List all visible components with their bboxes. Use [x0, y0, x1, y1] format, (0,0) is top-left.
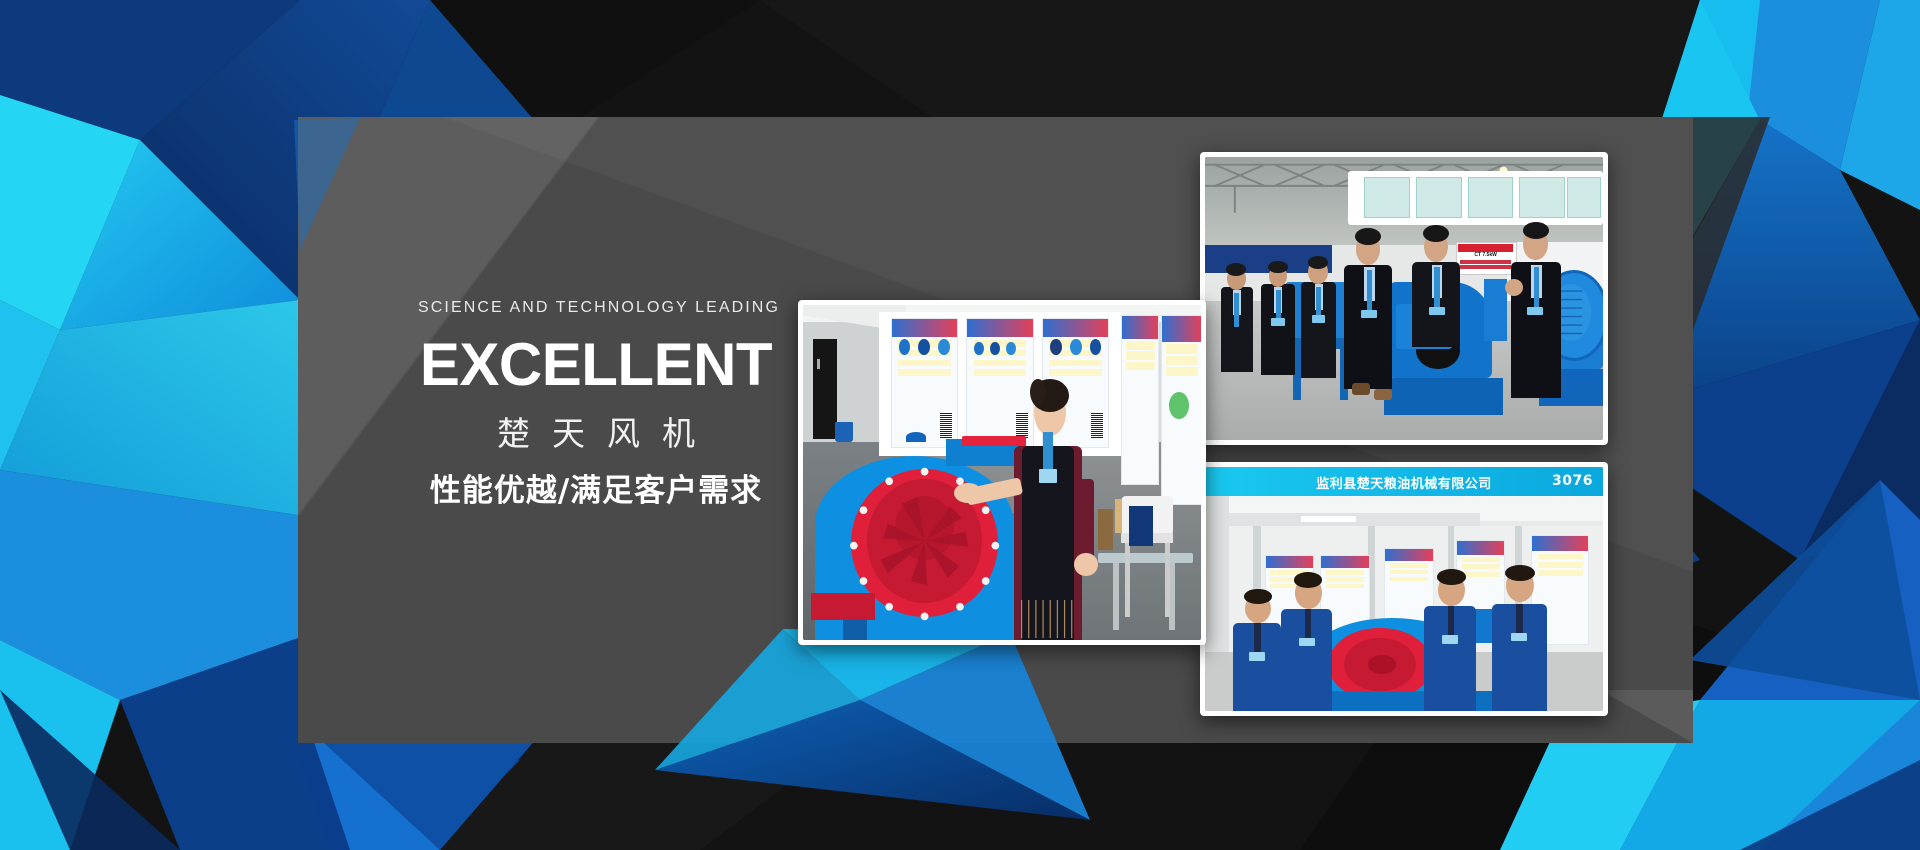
photo-exhibition-presenter [798, 300, 1206, 645]
photo-center-scene [803, 305, 1201, 640]
photo-staff-team-booth: 监利县楚天粮油机械有限公司 3076 [1200, 462, 1608, 716]
tagline-cn: 性能优越/满足客户需求 [386, 476, 806, 507]
page-title: EXCELLENT [386, 335, 806, 395]
booth-company-name: 监利县楚天粮油机械有限公司 [1316, 473, 1492, 492]
photo-botright-scene: 监利县楚天粮油机械有限公司 3076 [1205, 467, 1603, 711]
eyebrow-text: SCIENCE AND TECHNOLOGY LEADING [386, 300, 806, 316]
booth-number: 3076 [1552, 473, 1593, 489]
headline-block: SCIENCE AND TECHNOLOGY LEADING EXCELLENT… [386, 300, 806, 507]
booth-banner: 监利县楚天粮油机械有限公司 3076 [1205, 467, 1603, 497]
brand-name-cn: 楚天风机 [386, 417, 806, 450]
photo-team-with-fans: CT 7.5kW [1200, 152, 1608, 445]
photo-topright-scene: CT 7.5kW [1205, 157, 1603, 440]
hero-banner: SCIENCE AND TECHNOLOGY LEADING EXCELLENT… [0, 0, 1920, 850]
